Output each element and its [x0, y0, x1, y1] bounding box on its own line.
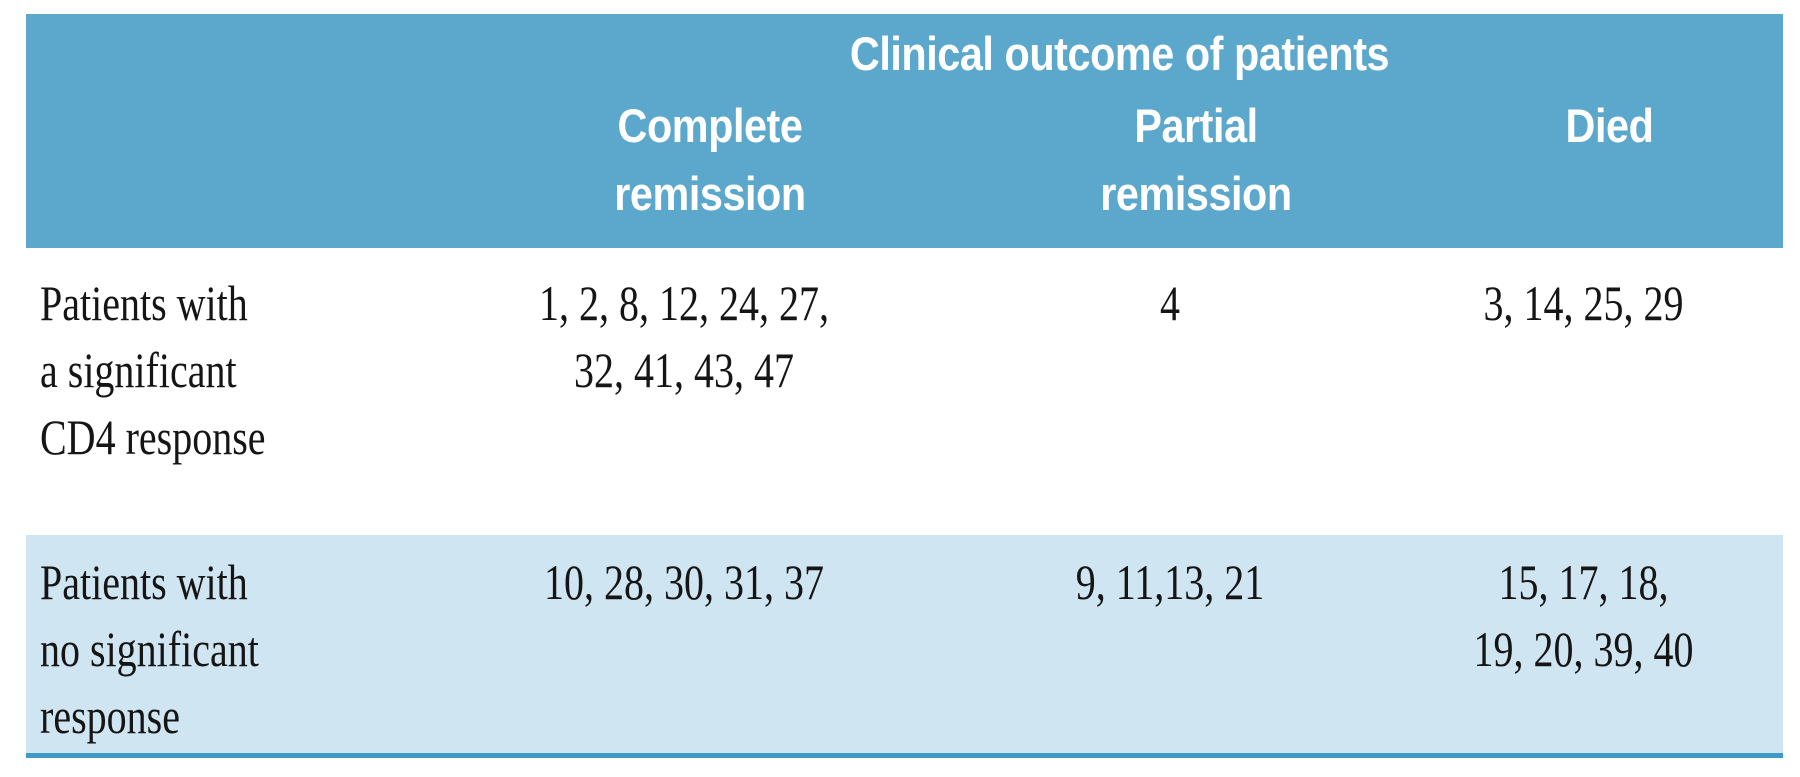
- row-1-died-line-1: 3, 14, 25, 29: [1445, 270, 1723, 337]
- column-header-died-line-1: Died: [1457, 92, 1762, 160]
- table-row: Patients with no significant response 10…: [26, 535, 1783, 755]
- column-header-complete-remission-line-2: remission: [494, 160, 927, 228]
- clinical-outcome-table: Clinical outcome of patients Complete re…: [0, 0, 1800, 777]
- column-header-partial-remission-line-2: remission: [985, 160, 1407, 228]
- column-header-partial-remission: Partial remission: [985, 92, 1407, 228]
- row-2-label: Patients with no significant response: [40, 549, 520, 750]
- row-2-died-line-1: 15, 17, 18,: [1445, 549, 1723, 616]
- row-2-label-line-3: response: [40, 683, 520, 750]
- row-2-died-cell: 15, 17, 18, 19, 20, 39, 40: [1445, 549, 1723, 683]
- row-1-label-line-2: a significant: [40, 337, 520, 404]
- row-1-label-line-1: Patients with: [40, 270, 520, 337]
- row-1-label-line-3: CD4 response: [40, 404, 520, 471]
- column-header-complete-remission-line-1: Complete: [494, 92, 927, 160]
- row-1-partial-remission-line-1: 4: [978, 270, 1362, 337]
- row-1-complete-remission-line-1: 1, 2, 8, 12, 24, 27,: [487, 270, 881, 337]
- column-header-died: Died: [1457, 92, 1762, 160]
- table-row: Patients with a significant CD4 response…: [26, 248, 1783, 535]
- row-1-complete-remission-line-2: 32, 41, 43, 47: [487, 337, 881, 404]
- header-span-title: Clinical outcome of patients: [536, 26, 1704, 82]
- row-1-partial-remission-cell: 4: [978, 270, 1362, 337]
- row-2-label-line-1: Patients with: [40, 549, 520, 616]
- row-1-complete-remission-cell: 1, 2, 8, 12, 24, 27, 32, 41, 43, 47: [487, 270, 881, 404]
- row-2-partial-remission-line-1: 9, 11,13, 21: [978, 549, 1362, 616]
- table-header-band: Clinical outcome of patients Complete re…: [26, 14, 1783, 248]
- column-header-partial-remission-line-1: Partial: [985, 92, 1407, 160]
- table-bottom-rule: [26, 753, 1783, 758]
- row-2-complete-remission-cell: 10, 28, 30, 31, 37: [487, 549, 881, 616]
- row-2-died-line-2: 19, 20, 39, 40: [1445, 616, 1723, 683]
- row-2-complete-remission-line-1: 10, 28, 30, 31, 37: [487, 549, 881, 616]
- row-1-label: Patients with a significant CD4 response: [40, 270, 520, 471]
- row-1-died-cell: 3, 14, 25, 29: [1445, 270, 1723, 337]
- row-2-label-line-2: no significant: [40, 616, 520, 683]
- row-2-partial-remission-cell: 9, 11,13, 21: [978, 549, 1362, 616]
- column-header-complete-remission: Complete remission: [494, 92, 927, 228]
